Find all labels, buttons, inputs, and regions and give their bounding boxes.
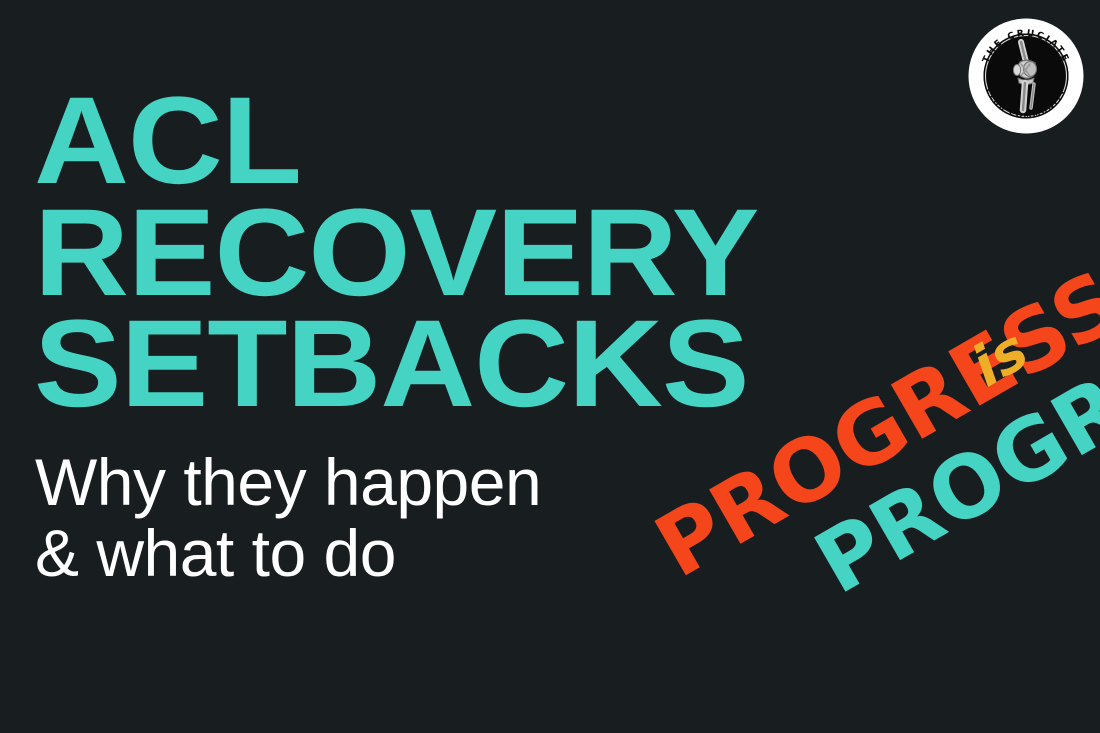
progress-is-progress-sticker: PROGRESS is PROGRESS bbox=[620, 370, 1090, 650]
headline-line-1: ACL bbox=[34, 86, 776, 198]
poster-canvas: ACL RECOVERY SETBACKS Why they happen & … bbox=[0, 0, 1100, 733]
brand-logo: THE CRUCIATE CLUB COMMUNITY bbox=[968, 18, 1084, 134]
headline-line-2: RECOVERY bbox=[34, 198, 776, 310]
